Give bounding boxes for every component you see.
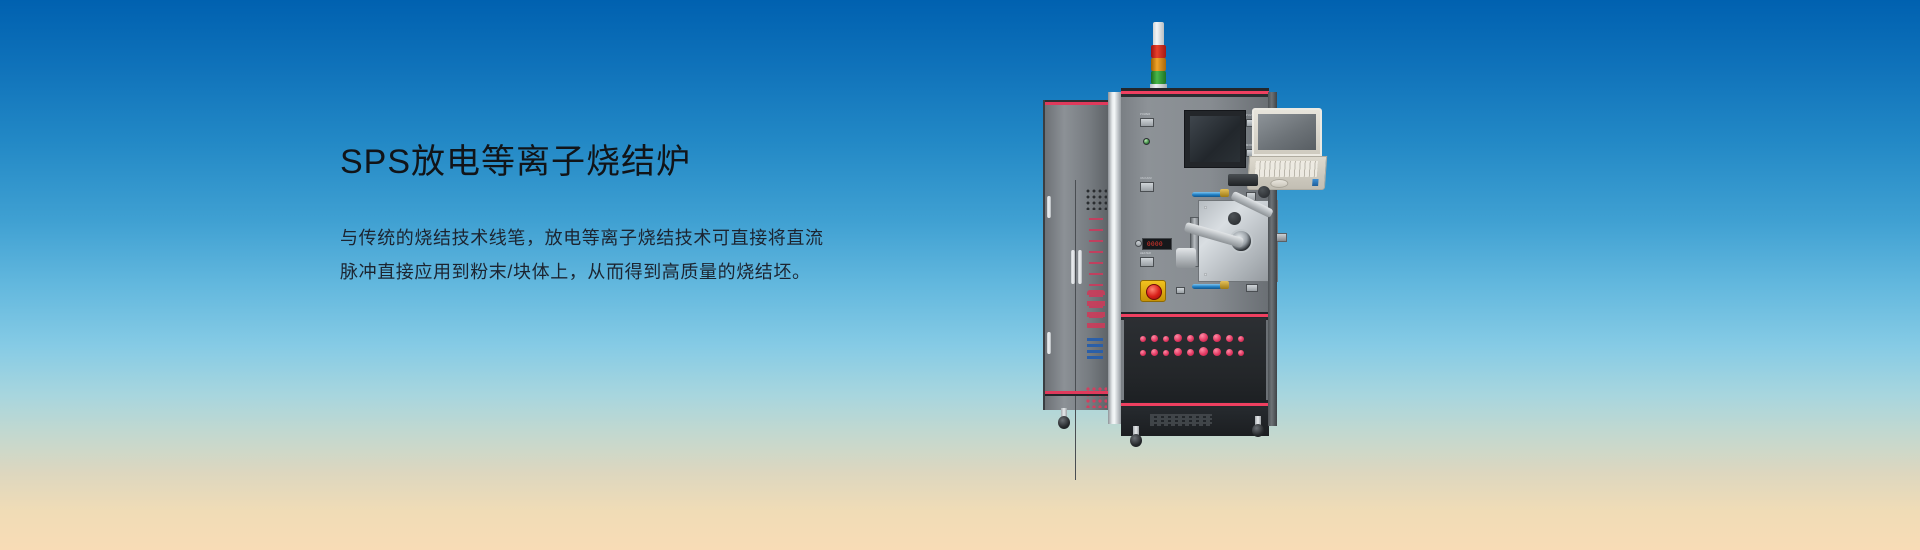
- accent-stripe-top: [1121, 88, 1269, 97]
- lower-service-panel: [1124, 318, 1266, 402]
- digital-readout-value: 0000: [1147, 241, 1163, 248]
- chamber-bolt: [1204, 206, 1207, 209]
- connector-dot: [1213, 348, 1221, 356]
- panel-switch-stop: [1176, 287, 1185, 294]
- caster-wheel-front-right: [1252, 416, 1264, 438]
- side-door-handle-left: [1071, 250, 1075, 284]
- arm-mount-bracket: [1176, 248, 1196, 268]
- connector-dot: [1187, 349, 1194, 356]
- hero-banner: SPS放电等离子烧结炉 与传统的烧结技术线笔，放电等离子烧结技术可直接将直流 脉…: [0, 0, 1920, 550]
- connector-dot: [1163, 336, 1169, 342]
- digital-readout: 0000: [1142, 238, 1172, 250]
- caster-wheel-icon: [1130, 434, 1142, 447]
- connector-dot: [1140, 336, 1146, 342]
- laptop-keyboard: [1255, 161, 1318, 177]
- caster-wheel-rear-left: [1058, 408, 1070, 430]
- panel-switch-heater: [1140, 257, 1154, 267]
- connector-dot: [1199, 347, 1208, 356]
- side-cabinet: [1043, 100, 1109, 410]
- connector-dot: [1199, 333, 1208, 342]
- stack-light-amber-icon: [1151, 58, 1166, 71]
- caster-wheel-front-left: [1130, 426, 1142, 448]
- panel-switch-vacuum-label: VACUUM: [1140, 177, 1152, 180]
- page-title: SPS放电等离子烧结炉: [340, 142, 1040, 183]
- panel-switch-power: [1140, 118, 1154, 127]
- connector-dot: [1238, 336, 1244, 342]
- camera-head: [1228, 174, 1258, 186]
- connector-dot: [1226, 335, 1233, 342]
- caster-wheel-icon: [1252, 424, 1264, 437]
- side-door-handle-right: [1078, 250, 1082, 284]
- hero-description: 与传统的烧结技术线笔，放电等离子烧结技术可直接将直流 脉冲直接应用到粉末/块体上…: [340, 221, 1040, 289]
- connector-dot: [1226, 349, 1233, 356]
- arm-joint-mid: [1228, 212, 1241, 225]
- panel-indicator-lamp: [1135, 240, 1142, 247]
- chamber-bolt: [1204, 273, 1207, 276]
- panel-switch-power-label: POWER: [1140, 113, 1150, 116]
- side-latch-lower: [1047, 332, 1051, 354]
- connector-dot: [1187, 335, 1194, 342]
- base-vent-grill: [1150, 414, 1212, 426]
- frame-column: [1108, 92, 1122, 424]
- hero-description-line-2: 脉冲直接应用到粉末/块体上，从而得到高质量的烧结坯。: [340, 255, 1040, 289]
- panel-knob-selector: [1143, 138, 1150, 145]
- side-label-plate: [1087, 338, 1103, 360]
- side-gauge-cluster: [1087, 290, 1105, 330]
- connector-dot-field: [1140, 332, 1250, 362]
- stack-light-red-icon: [1151, 45, 1166, 58]
- laptop-base: [1247, 156, 1327, 190]
- hero-description-line-1: 与传统的烧结技术线笔，放电等离子烧结技术可直接将直流: [340, 221, 1040, 255]
- side-vent-grill: [1085, 188, 1107, 210]
- operator-laptop-rig: [1228, 108, 1368, 308]
- connector-dot: [1151, 335, 1158, 342]
- emergency-stop-plate: [1140, 280, 1166, 302]
- side-terminal-dots: [1085, 386, 1107, 408]
- connector-dot: [1174, 348, 1182, 356]
- caster-wheel-icon: [1058, 416, 1070, 429]
- hero-text-block: SPS放电等离子烧结炉 与传统的烧结技术线笔，放电等离子烧结技术可直接将直流 脉…: [340, 142, 1040, 289]
- emergency-stop-button: [1146, 284, 1162, 300]
- laptop-screen: [1258, 114, 1316, 150]
- laptop-badge-icon: [1312, 179, 1318, 186]
- connector-dot: [1151, 349, 1158, 356]
- side-latch-upper: [1047, 196, 1051, 218]
- side-door-seam: [1075, 180, 1076, 480]
- stack-light-green-icon: [1151, 71, 1166, 84]
- coolant-tube-upper: [1192, 192, 1222, 197]
- panel-switch-vacuum: [1140, 182, 1154, 192]
- laptop-lid: [1252, 108, 1322, 156]
- arm-joint-upper: [1258, 186, 1270, 198]
- connector-dot: [1174, 334, 1182, 342]
- connector-dot: [1213, 334, 1221, 342]
- coolant-tube-lower: [1192, 284, 1222, 289]
- connector-dot: [1140, 350, 1146, 356]
- panel-switch-heater-label: HEATER: [1140, 252, 1151, 255]
- laptop-trackpad: [1270, 179, 1289, 188]
- connector-dot: [1163, 350, 1169, 356]
- connector-dot: [1238, 350, 1244, 356]
